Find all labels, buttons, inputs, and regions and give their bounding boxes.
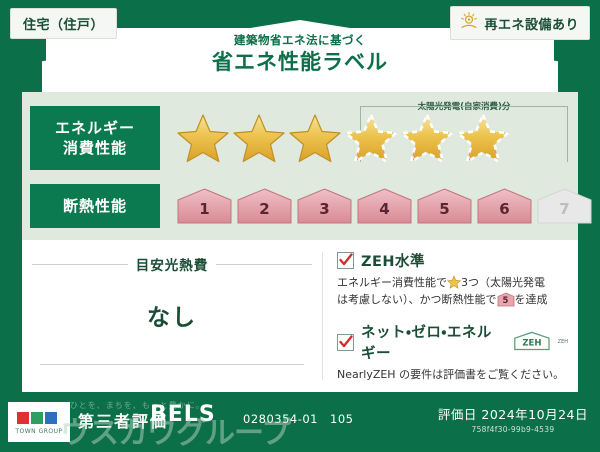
zeh-standard-description: エネルギー消費性能で3つ（太陽光発電 は考慮しない）、かつ断熱性能で5を達成	[337, 274, 568, 308]
house-icon-number: 5	[497, 295, 515, 308]
dwelling-type-badge: 住宅（住戸）	[10, 8, 117, 39]
label-card: 太陽光発電(自家消費)分 エネルギー 消費性能	[22, 92, 578, 392]
insulation-key-label: 断熱性能	[63, 196, 127, 216]
bels-logo: BELS	[150, 404, 216, 426]
insulation-performance-key: 断熱性能	[30, 184, 160, 228]
zeh-logo-mark: ZEH	[558, 339, 568, 345]
zeh-standard-row: ZEH水準	[337, 250, 568, 271]
insulation-level-number: 4	[356, 200, 413, 218]
rule-right	[216, 264, 312, 265]
utility-cost-heading: 目安光熱費	[32, 254, 312, 274]
check-icon	[337, 334, 354, 351]
rule-left	[32, 264, 128, 265]
zeh-desc-part3: を達成	[515, 293, 548, 306]
insulation-level-badge: 4	[356, 187, 413, 225]
criteria-panel: ZEH水準 エネルギー消費性能で3つ（太陽光発電 は考慮しない）、かつ断熱性能で…	[323, 240, 578, 392]
utility-cost-underline	[40, 364, 304, 365]
net-zero-row: ネット・ゼロ・エネルギー ZEH ZEH	[337, 321, 568, 363]
energy-performance-row: エネルギー 消費性能	[30, 106, 510, 170]
insulation-performance-row: 断熱性能 1 2 3	[30, 184, 593, 228]
renewable-equipment-label: 再エネ設備あり	[484, 14, 579, 33]
insulation-level-scale: 1 2 3 4 5	[176, 187, 593, 225]
evaluation-date-block: 評価日 2024年10月24日 758f4f30-99b9-4539	[438, 404, 588, 434]
zeh-desc-part1: エネルギー消費性能で	[337, 276, 447, 289]
zeh-logo-icon: ZEH	[513, 331, 551, 353]
insulation-level-badge: 2	[236, 187, 293, 225]
label-header: 建築物省エネ法に基づく 省エネ性能ラベル 住宅（住戸）	[0, 0, 600, 100]
dwelling-type-label: 住宅（住戸）	[23, 18, 104, 33]
insulation-level-number: 7	[536, 200, 593, 218]
star-solid	[288, 112, 342, 164]
star-solid	[176, 112, 230, 164]
net-zero-title: ネット・ゼロ・エネルギー	[361, 321, 506, 363]
town-group-label: TOWN GROUP	[15, 428, 62, 435]
insulation-level-badge: 5	[416, 187, 473, 225]
evaluation-date: 評価日 2024年10月24日	[438, 404, 588, 423]
utility-cost-value: なし	[22, 298, 322, 332]
town-group-logo: TOWN GROUP	[8, 402, 70, 442]
star-solid	[232, 112, 286, 164]
insulation-level-badge: 6	[476, 187, 533, 225]
zeh-standard-title: ZEH水準	[361, 250, 425, 271]
energy-key-line2: 消費性能	[63, 138, 127, 158]
bels-label: BELS	[150, 404, 216, 426]
utility-cost-panel: 目安光熱費 なし	[22, 240, 322, 392]
page-title: 省エネ性能ラベル	[0, 48, 600, 76]
performance-zone: 太陽光発電(自家消費)分 エネルギー 消費性能	[22, 92, 578, 240]
insulation-level-badge-inactive: 7	[536, 187, 593, 225]
check-icon	[337, 252, 354, 269]
evaluation-number: 0280354-01 105	[243, 411, 353, 427]
energy-star-rating	[176, 112, 510, 164]
net-zero-description: NearlyZEH の要件は評価書をご覧ください。	[337, 366, 568, 383]
star-solar	[456, 112, 510, 164]
insulation-level-badge: 1	[176, 187, 233, 225]
renewable-equipment-badge: 再エネ設備あり	[450, 6, 590, 40]
energy-performance-key: エネルギー 消費性能	[30, 106, 160, 170]
insulation-level-number: 5	[416, 200, 473, 218]
star-solar	[344, 112, 398, 164]
insulation-level-badge: 3	[296, 187, 353, 225]
lower-section: 目安光熱費 なし ZEH水準 エネルギー消費性能で3つ（太陽光発電 は考慮しな	[22, 240, 578, 392]
insulation-level-number: 1	[176, 200, 233, 218]
energy-key-line1: エネルギー	[55, 118, 135, 138]
star-icon-inline	[447, 275, 461, 289]
zeh-desc-stars: 3つ（太陽光発電	[461, 276, 545, 289]
utility-cost-title: 目安光熱費	[136, 254, 209, 274]
town-group-mark	[16, 410, 62, 426]
insulation-level-number: 6	[476, 200, 533, 218]
sun-icon	[459, 11, 479, 35]
title-block: 建築物省エネ法に基づく 省エネ性能ラベル	[0, 34, 600, 76]
insulation-level-number: 2	[236, 200, 293, 218]
zeh-desc-part2: は考慮しない）、かつ断熱性能で	[337, 293, 497, 306]
house-icon-inline: 5	[497, 292, 515, 307]
insulation-level-number: 3	[296, 200, 353, 218]
label-footer: TOWN GROUP 第三者評価 BELS 0280354-01 105 評価日…	[0, 394, 600, 450]
evaluation-id: 758f4f30-99b9-4539	[438, 425, 588, 434]
svg-text:ZEH: ZEH	[522, 338, 541, 348]
energy-performance-label: 建築物省エネ法に基づく 省エネ性能ラベル 住宅（住戸）	[0, 0, 600, 450]
star-solar	[400, 112, 454, 164]
